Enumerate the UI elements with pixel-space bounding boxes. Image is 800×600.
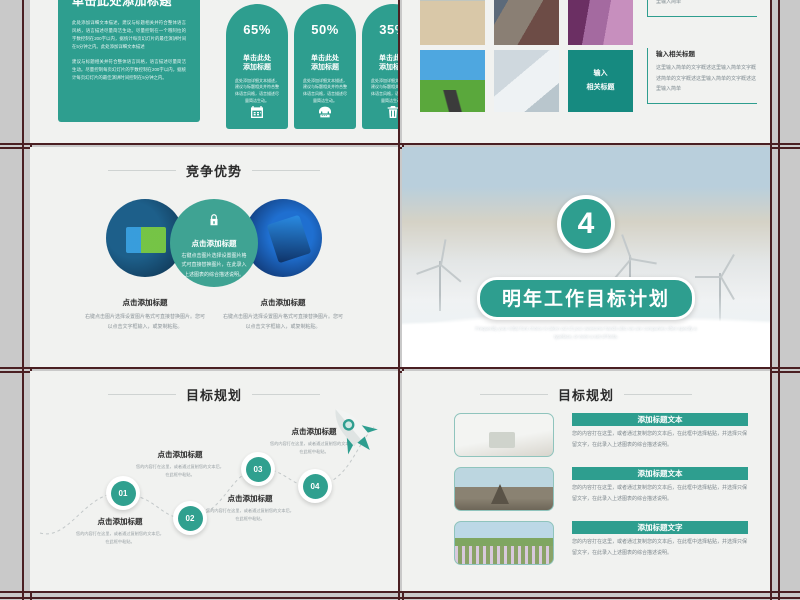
- slide-thumbnail-4[interactable]: 4 明年工作目标计划 Frequently your initial font …: [402, 147, 770, 367]
- center-title: 点击添加标题: [170, 238, 258, 249]
- roadmap-node-3[interactable]: 03: [241, 452, 275, 486]
- frame-line-left: [22, 0, 24, 600]
- roadmap-label-3: 点击添加标题 您的内容打在这里，或者通过复制您的文本后，在此框中粘贴。: [206, 493, 294, 522]
- card-paragraph-1: 此处添加详细文本描述，建议与标题相关并符合整体语言风格，语言描述尽量简洁生动。尽…: [72, 19, 186, 52]
- frame-line-right-inner: [770, 0, 772, 600]
- stat-column-1[interactable]: 65% 单击此处 添加标题 此处添加详细文本描述，建议与标题相关并符合整体语言风…: [226, 4, 288, 129]
- slide-title-row: 目标规划: [402, 385, 770, 404]
- text-block-heading: 输入相关标题: [656, 48, 757, 58]
- slide-title-row: 竞争优势: [30, 161, 398, 180]
- center-highlight-circle[interactable]: 点击添加标题 右键点击图片选择设置图片格式可直接替换图片，在此录入上述图表的综合…: [170, 199, 258, 287]
- section-number-badge: 4: [557, 195, 615, 253]
- frame-line-bottom: [0, 597, 800, 599]
- mountain-photo: [454, 467, 554, 511]
- roadmap-label-1: 点击添加标题 您的内容打在这里，或者通过复制您的文本后，在此框中粘贴。: [76, 516, 164, 545]
- stat-percent: 65%: [226, 22, 288, 37]
- node-title: 点击添加标题: [206, 493, 294, 504]
- frame-line-right: [778, 0, 780, 600]
- slide-thumbnail-2[interactable]: 输入 相关标题 这里输入简单的文字概述这里输入简单文字概述简单的文字概述这里输入…: [402, 0, 770, 143]
- title-rule-left: [108, 170, 176, 171]
- node-body: 您的内容打在这里，或者通过复制您的文本后，在此框中粘贴。: [76, 530, 164, 545]
- node-number: 04: [303, 474, 328, 499]
- item-heading-bar-1: 添加标题文本: [572, 413, 748, 426]
- frame-line-center-a: [398, 0, 400, 600]
- slide-thumbnail-6[interactable]: 目标规划 添加标题文本 您的内容打在这里，或者通过复制您的文本后，在此框中选择粘…: [402, 371, 770, 591]
- frame-line-row1: [0, 143, 800, 145]
- node-number: 03: [246, 457, 271, 482]
- item-body-1: 您的内容打在这里，或者通过复制您的文本后，在此框中选择粘贴，并选择只保留文字，在…: [572, 429, 748, 450]
- card-title: 单击此处添加标题: [72, 0, 186, 9]
- item-body-3: 您的内容打在这里，或者通过复制您的文本后，在此框中选择粘贴，并选择只保留文字，在…: [572, 537, 748, 558]
- node-title: 点击添加标题: [136, 449, 224, 460]
- office-photo: [454, 413, 554, 457]
- people-photo: [494, 0, 559, 45]
- node-title: 点击添加标题: [76, 516, 164, 527]
- telephone-icon: [294, 104, 356, 120]
- stat-title: 单击此处 添加标题: [362, 55, 398, 73]
- stat-column-2[interactable]: 50% 单击此处 添加标题 此处添加详细文本描述，建议与标题相关并符合整体语言风…: [294, 4, 356, 129]
- page-title: 竞争优势: [186, 161, 242, 180]
- stat-title: 单击此处 添加标题: [226, 55, 288, 73]
- node-body: 您的内容打在这里，或者通过复制您的文本后，在此框中粘贴。: [206, 507, 294, 522]
- text-block-body: 这里输入简单的文字概述这里输入简单文字概述简单的文字概述这里输入简单的文字概述这…: [656, 0, 757, 8]
- frame-line-row3: [0, 591, 800, 593]
- node-number: 01: [111, 481, 136, 506]
- text-block-1: 这里输入简单的文字概述这里输入简单文字概述简单的文字概述这里输入简单的文字概述这…: [647, 0, 757, 17]
- caption-title: 点击添加标题: [222, 297, 344, 308]
- stat-body: 此处添加详细文本描述，建议与标题相关并符合整体语言风格，语言描述尽量简洁生动。: [226, 78, 288, 105]
- card-paragraph-2: 建议与标题相关并符合整体语言风格，语言描述尽量简洁生动。尽量控制每页幻灯片的字数…: [72, 58, 186, 82]
- slide-thumbnail-5[interactable]: 目标规划 01 02 03 04 点击添加标题 您的内容打在这里，或者通过复制您…: [30, 371, 398, 591]
- stat-percent: 50%: [294, 22, 356, 37]
- section-title: 明年工作目标计划: [477, 277, 695, 320]
- pier-photo: [568, 0, 633, 45]
- beach-photo: [420, 0, 485, 45]
- roadmap-node-4[interactable]: 04: [298, 469, 332, 503]
- item-heading-bar-3: 添加标题文字: [572, 521, 748, 534]
- rocket-icon: [322, 399, 384, 461]
- text-block-2: 输入相关标题 这里输入简单的文字概述这里输入简单文字概述简单的文字概述这里输入简…: [647, 48, 757, 104]
- node-body: 您的内容打在这里，或者通过复制您的文本后，在此框中粘贴。: [136, 463, 224, 478]
- road-photo: [420, 50, 485, 112]
- title-rule-right: [624, 394, 692, 395]
- hands-photo: [494, 50, 559, 112]
- title-rule-right: [252, 170, 320, 171]
- slide-thumbnail-3[interactable]: 竞争优势 点击添加标题 右键点击图片选择设置图片格式可直接替换图片，在此录入上述…: [30, 147, 398, 367]
- trash-icon: [362, 104, 398, 120]
- roadmap-node-2[interactable]: 02: [173, 501, 207, 535]
- calendar-icon: [226, 104, 288, 120]
- item-heading-bar-2: 添加标题文本: [572, 467, 748, 480]
- tile-label: 输入 相关标题: [587, 67, 615, 95]
- caption-left: 点击添加标题 右键点击图片选择设置图片格式可直接替换图片。您可以点击文字框输入，…: [84, 297, 206, 332]
- flowers-photo: [454, 521, 554, 565]
- title-rule-left: [480, 394, 548, 395]
- text-block-body: 这里输入简单的文字概述这里输入简单文字概述简单的文字概述这里输入简单的文字概述这…: [656, 63, 757, 95]
- caption-title: 点击添加标题: [84, 297, 206, 308]
- stat-body: 此处添加详细文本描述，建议与标题相关并符合整体语言风格，语言描述尽量简洁生动。: [294, 78, 356, 105]
- roadmap-label-2: 点击添加标题 您的内容打在这里，或者通过复制您的文本后，在此框中粘贴。: [136, 449, 224, 478]
- stat-body: 此处添加详细文本描述，建议与标题相关并符合整体语言风格，语言描述尽量简洁生动。: [362, 78, 398, 105]
- caption-body: 右键点击图片选择设置图片格式可直接替换图片。您可以点击文字框输入，或复制粘贴。: [222, 313, 344, 332]
- tile-label-block: 输入 相关标题: [568, 50, 633, 112]
- roadmap-node-1[interactable]: 01: [106, 476, 140, 510]
- section-subtitle: Frequently your initial font choice is t…: [402, 325, 770, 341]
- stat-title: 单击此处 添加标题: [294, 55, 356, 73]
- stat-column-3[interactable]: 35% 单击此处 添加标题 此处添加详细文本描述，建议与标题相关并符合整体语言风…: [362, 4, 398, 129]
- caption-body: 右键点击图片选择设置图片格式可直接替换图片。您可以点击文字框输入，或复制粘贴。: [84, 313, 206, 332]
- slide-thumbnail-1[interactable]: 单击此处添加标题 此处添加详细文本描述，建议与标题相关并符合整体语言风格，语言描…: [30, 0, 398, 143]
- center-body: 右键点击图片选择设置图片格式可直接替换图片，在此录入上述图表的综合描述说明。: [170, 249, 258, 280]
- lock-icon: [207, 214, 221, 231]
- slide-preview-grid: 单击此处添加标题 此处添加详细文本描述，建议与标题相关并符合整体语言风格，语言描…: [0, 0, 800, 600]
- intro-text-card: 单击此处添加标题 此处添加详细文本描述，建议与标题相关并符合整体语言风格，语言描…: [58, 0, 200, 122]
- stat-percent: 35%: [362, 22, 398, 37]
- node-number: 02: [178, 506, 203, 531]
- caption-right: 点击添加标题 右键点击图片选择设置图片格式可直接替换图片。您可以点击文字框输入，…: [222, 297, 344, 332]
- frame-line-row2: [0, 367, 800, 369]
- page-title: 目标规划: [558, 385, 614, 404]
- item-body-2: 您的内容打在这里，或者通过复制您的文本后，在此框中选择粘贴，并选择只保留文字，在…: [572, 483, 748, 504]
